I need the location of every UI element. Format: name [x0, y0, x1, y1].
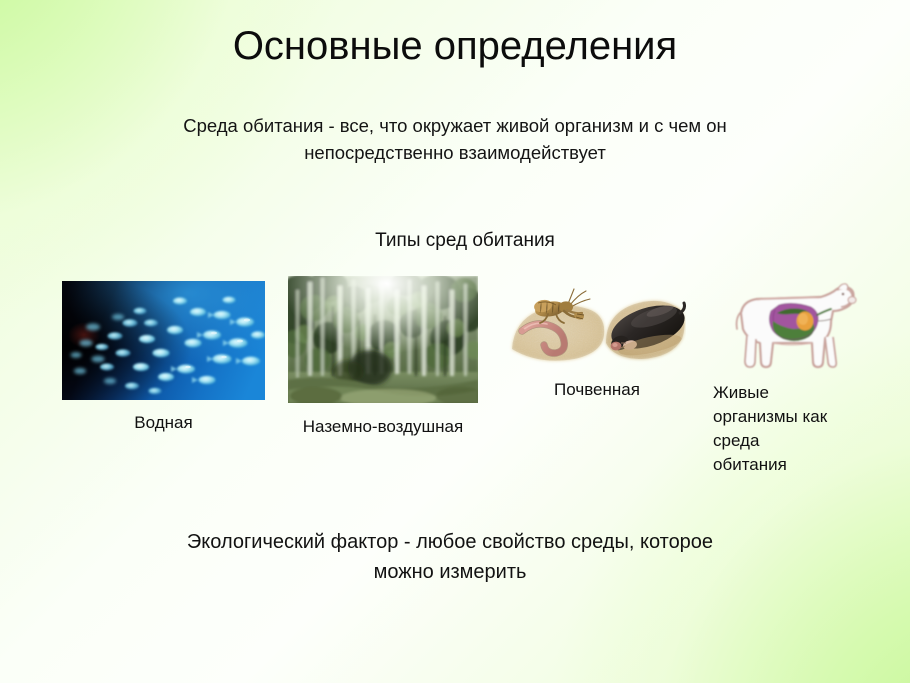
- figure-caption-aquatic: Водная: [62, 411, 265, 434]
- figure-caption-living-organisms: Живые организмы как среда обитания: [713, 381, 861, 477]
- figure-living-organisms-habitat: Живые организмы как среда обитания: [713, 277, 873, 377]
- habitat-types-heading: Типы сред обитания: [255, 228, 675, 254]
- birch-forest-illustration: [288, 276, 478, 403]
- soil-organisms-image: [508, 287, 686, 371]
- soil-organisms-illustration: [508, 287, 686, 371]
- birch-forest-image: [288, 276, 478, 403]
- habitat-definition-text: Среда обитания - все, что окружает живой…: [120, 112, 790, 166]
- figure-caption-soil: Почвенная: [518, 378, 676, 401]
- figure-aquatic-habitat: Водная: [62, 281, 265, 400]
- cow-organs-diagram-illustration: [713, 277, 873, 377]
- presentation-slide: Основные определения Среда обитания - вс…: [0, 0, 910, 683]
- underwater-fish-school-illustration: [62, 281, 265, 400]
- figure-terrestrial-habitat: Наземно-воздушная: [288, 276, 478, 403]
- ecological-factor-definition-text: Экологический фактор - любое свойство ср…: [165, 527, 735, 587]
- figure-caption-terrestrial: Наземно-воздушная: [260, 415, 506, 438]
- page-title: Основные определения: [0, 22, 910, 70]
- cow-organs-diagram-image: [713, 277, 873, 377]
- figure-soil-habitat: Почвенная: [508, 287, 686, 371]
- underwater-fish-school-image: [62, 281, 265, 400]
